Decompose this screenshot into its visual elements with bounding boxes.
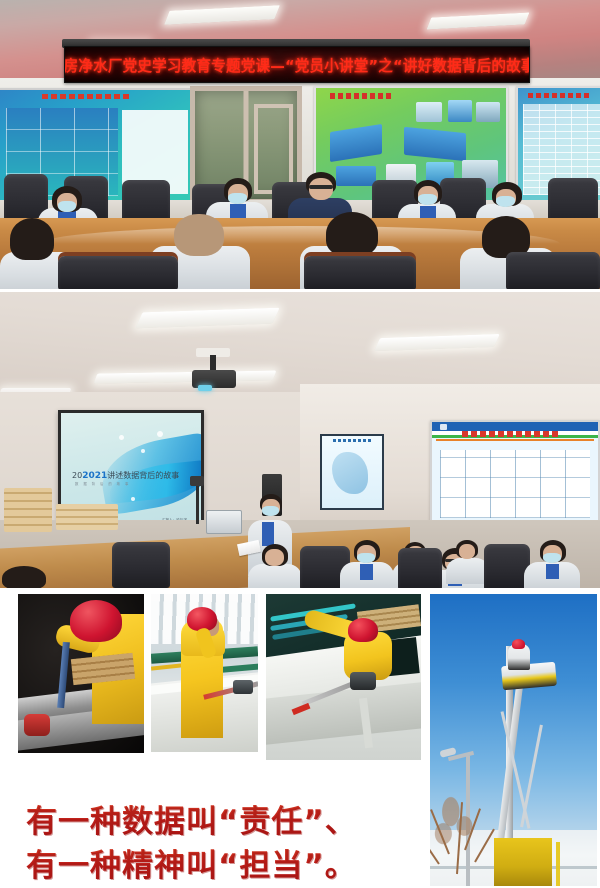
slide-bubble	[131, 497, 135, 501]
safety-helmet-icon	[512, 639, 525, 649]
wall-board-pipeline-diagram	[430, 420, 600, 528]
sampling-pole-head	[350, 672, 376, 690]
photo-tower-lift	[430, 594, 597, 886]
board-map-graphic	[332, 452, 368, 494]
twig	[430, 830, 440, 864]
collar	[546, 564, 559, 579]
led-banner-text: 平房净水厂党史学习教育专题党课—“党员小讲堂”之“讲好数据背后的故事”	[64, 54, 530, 76]
projector	[192, 370, 236, 388]
face-mask	[543, 553, 561, 563]
twig	[456, 802, 463, 874]
face-mask	[262, 506, 279, 516]
board-graphic	[404, 127, 466, 162]
face	[309, 178, 333, 200]
person-attendee	[248, 544, 302, 588]
slide-year: 2021	[82, 471, 107, 481]
photo-valve-work	[18, 594, 144, 753]
face-mask	[58, 201, 76, 212]
face	[459, 544, 475, 559]
head	[174, 214, 224, 256]
person-foreground	[2, 566, 68, 588]
projector-mount-arm	[210, 355, 216, 371]
stacked-documents	[4, 488, 52, 532]
laptop	[206, 510, 242, 534]
camera-tripod	[196, 484, 199, 524]
person-attendee	[340, 540, 394, 588]
board-title-bar	[462, 431, 558, 437]
board-title-bar	[528, 93, 590, 98]
torso	[248, 564, 302, 588]
board-title-bar	[42, 94, 132, 99]
poster-page: 平房净水厂党史学习教育专题党课—“党员小讲堂”之“讲好数据背后的故事”	[0, 0, 600, 886]
photo-meeting-room: 平房净水厂党史学习教育专题党课—“党员小讲堂”之“讲好数据背后的故事”	[0, 0, 600, 289]
led-banner: 平房净水厂党史学习教育专题党课—“党员小讲堂”之“讲好数据背后的故事”	[64, 46, 530, 83]
hair	[2, 566, 46, 588]
eyeglasses-icon	[309, 185, 333, 189]
ceiling-light-icon	[164, 5, 280, 25]
board-diagram-area	[440, 450, 590, 518]
twig	[464, 808, 481, 850]
board-accent-line	[436, 439, 594, 441]
chair	[112, 542, 170, 588]
face-mask	[418, 194, 437, 205]
slide-subtitle: 数 据 背 后 的 故 事	[75, 481, 130, 486]
board-title-bar	[330, 93, 394, 99]
wall-board-supply-map	[320, 434, 384, 510]
slide-bubble	[141, 449, 145, 453]
safety-helmet-icon	[70, 600, 122, 642]
slogan-line-2: 有一种精神叫“担当”。	[26, 844, 426, 888]
ceiling-light-icon	[93, 370, 276, 383]
ceiling-light-icon	[374, 334, 500, 351]
person-attendee	[524, 540, 580, 588]
hair	[10, 218, 54, 260]
slogan-block: 有一种数据叫“责任”、 有一种精神叫“担当”。	[26, 800, 426, 888]
safety-glove	[24, 714, 50, 736]
sampling-pole-head	[233, 680, 253, 694]
slogan-line-1: 有一种数据叫“责任”、	[26, 800, 426, 844]
slide-bubble	[157, 431, 163, 437]
lift-base	[494, 838, 552, 886]
projector-lens-icon	[198, 385, 212, 391]
board-logo-icon	[440, 424, 447, 430]
slide-title: 202021讲述数据背后的故事	[72, 470, 179, 481]
photo-training-room: 202021讲述数据背后的故事 数 据 背 后 的 故 事 汇报人：哈尔滨	[0, 292, 600, 588]
board-graphic	[330, 124, 382, 162]
bare-tree	[430, 778, 488, 874]
safety-helmet-icon	[348, 618, 378, 642]
ceiling-light-icon	[135, 308, 279, 329]
stacked-documents	[56, 504, 118, 530]
ceiling-light-icon	[427, 12, 530, 29]
hair	[326, 212, 378, 256]
photo-radio-worker	[151, 594, 258, 752]
camera-tripod-head	[190, 476, 204, 486]
collar	[360, 564, 373, 580]
twig	[430, 809, 450, 854]
chair	[506, 252, 600, 289]
collar	[262, 522, 274, 546]
face-mask	[357, 553, 375, 563]
chair	[398, 548, 442, 588]
face	[265, 549, 284, 566]
photo-hatch-work	[266, 594, 421, 760]
board-graphic	[448, 100, 472, 122]
slide-bubble	[119, 435, 124, 440]
chair	[304, 256, 416, 289]
board-title-bar	[333, 439, 371, 442]
slide-title-text: 讲述数据背后的故事	[107, 471, 179, 480]
chair	[58, 256, 178, 289]
face-mask	[228, 193, 247, 204]
board-graphic	[476, 102, 500, 122]
face-mask	[496, 196, 515, 207]
board-graphic	[416, 102, 442, 122]
